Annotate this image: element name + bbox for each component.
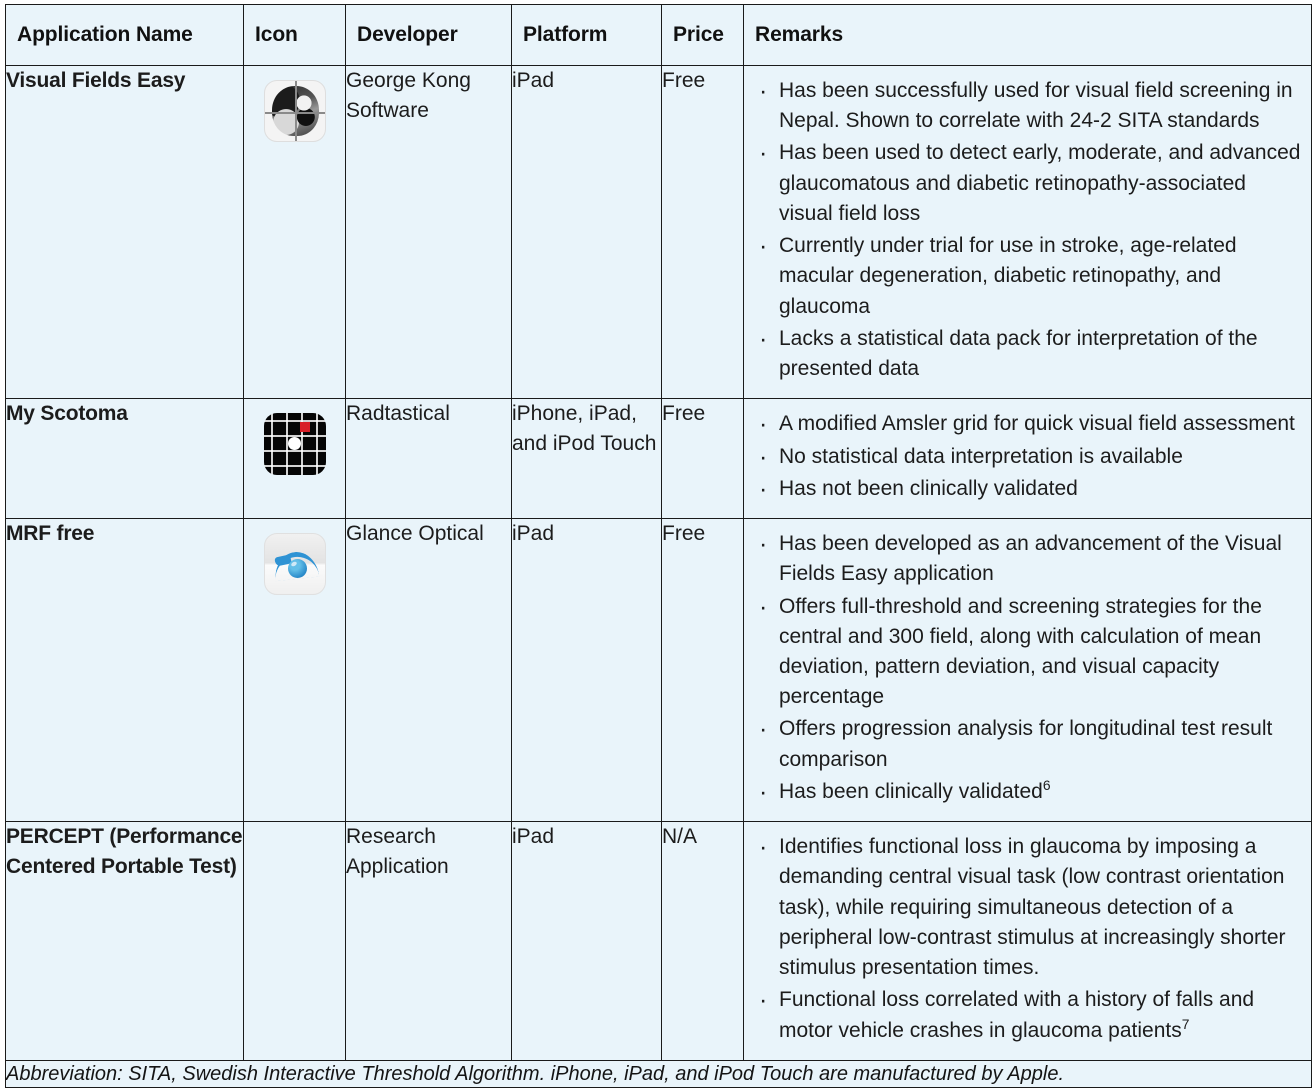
cell-application-name: My Scotoma	[6, 399, 244, 519]
cell-application-name: PERCEPT (Performance Centered Portable T…	[6, 822, 244, 1061]
remarks-list: Has been developed as an advancement of …	[754, 529, 1301, 807]
fixation-dot	[288, 437, 301, 450]
cell-icon	[244, 519, 346, 822]
cell-remarks: A modified Amsler grid for quick visual …	[744, 399, 1312, 519]
list-item: Has been successfully used for visual fi…	[754, 76, 1301, 136]
column-header-developer: Developer	[346, 5, 512, 66]
table-header-row: Application Name Icon Developer Platform…	[6, 5, 1312, 66]
cell-developer: Glance Optical	[346, 519, 512, 822]
list-item: Offers full-threshold and screening stra…	[754, 592, 1301, 713]
footnote-text: Abbreviation: SITA, Swedish Interactive …	[6, 1060, 1312, 1087]
column-header-application-name: Application Name	[6, 5, 244, 66]
cell-developer: Research Application	[346, 822, 512, 1061]
cell-platform: iPad	[512, 66, 662, 399]
amsler-grid-icon	[264, 413, 326, 475]
crosshair-horizontal	[265, 112, 326, 114]
cell-platform: iPad	[512, 519, 662, 822]
cell-price: Free	[662, 519, 744, 822]
eye-iris-shape	[288, 559, 307, 578]
visual-field-plot-icon	[264, 80, 326, 142]
column-header-platform: Platform	[512, 5, 662, 66]
mobile-applications-table: TABLE. MOBILE APPLICATIONS Application N…	[0, 0, 1316, 1048]
table-row: PERCEPT (Performance Centered Portable T…	[6, 822, 1312, 1061]
cell-platform: iPhone, iPad, and iPod Touch	[512, 399, 662, 519]
column-header-icon: Icon	[244, 5, 346, 66]
list-item: Offers progression analysis for longitud…	[754, 714, 1301, 774]
table-row: MRF free Glance Optical iPad Free Has be…	[6, 519, 1312, 822]
blue-eye-icon	[264, 533, 326, 595]
column-header-price: Price	[662, 5, 744, 66]
list-item: Currently under trial for use in stroke,…	[754, 231, 1301, 322]
list-item: A modified Amsler grid for quick visual …	[754, 409, 1301, 439]
table-row: Visual Fields Easy George Kong Software …	[6, 66, 1312, 399]
list-item: Has been clinically validated6	[754, 777, 1301, 807]
list-item-text: Has been clinically validated	[779, 780, 1043, 803]
citation-marker: 6	[1043, 777, 1051, 793]
cell-platform: iPad	[512, 822, 662, 1061]
column-header-remarks: Remarks	[744, 5, 1312, 66]
list-item: Identifies functional loss in glaucoma b…	[754, 832, 1301, 983]
remarks-list: Has been successfully used for visual fi…	[754, 76, 1301, 384]
cell-remarks: Identifies functional loss in glaucoma b…	[744, 822, 1312, 1061]
cell-remarks: Has been successfully used for visual fi…	[744, 66, 1312, 399]
remarks-list: A modified Amsler grid for quick visual …	[754, 409, 1301, 504]
scotoma-marker	[300, 422, 310, 432]
list-item: Lacks a statistical data pack for interp…	[754, 324, 1301, 384]
cell-price: Free	[662, 66, 744, 399]
list-item: Has been used to detect early, moderate,…	[754, 138, 1301, 229]
list-item: Has not been clinically validated	[754, 474, 1301, 504]
cell-icon	[244, 822, 346, 1061]
cell-application-name: Visual Fields Easy	[6, 66, 244, 399]
remarks-list: Identifies functional loss in glaucoma b…	[754, 832, 1301, 1046]
cell-price: N/A	[662, 822, 744, 1061]
cell-developer: George Kong Software	[346, 66, 512, 399]
cell-remarks: Has been developed as an advancement of …	[744, 519, 1312, 822]
table-footnote-row: Abbreviation: SITA, Swedish Interactive …	[6, 1060, 1312, 1087]
cell-icon	[244, 399, 346, 519]
list-item: No statistical data interpretation is av…	[754, 442, 1301, 472]
cell-price: Free	[662, 399, 744, 519]
cell-developer: Radtastical	[346, 399, 512, 519]
list-item: Functional loss correlated with a histor…	[754, 985, 1301, 1045]
citation-marker: 7	[1182, 1016, 1190, 1032]
cell-application-name: MRF free	[6, 519, 244, 822]
table-row: My Scotoma Radtastical iPhone, iPad, and…	[6, 399, 1312, 519]
list-item: Has been developed as an advancement of …	[754, 529, 1301, 589]
cell-icon	[244, 66, 346, 399]
applications-table: Application Name Icon Developer Platform…	[5, 4, 1312, 1088]
